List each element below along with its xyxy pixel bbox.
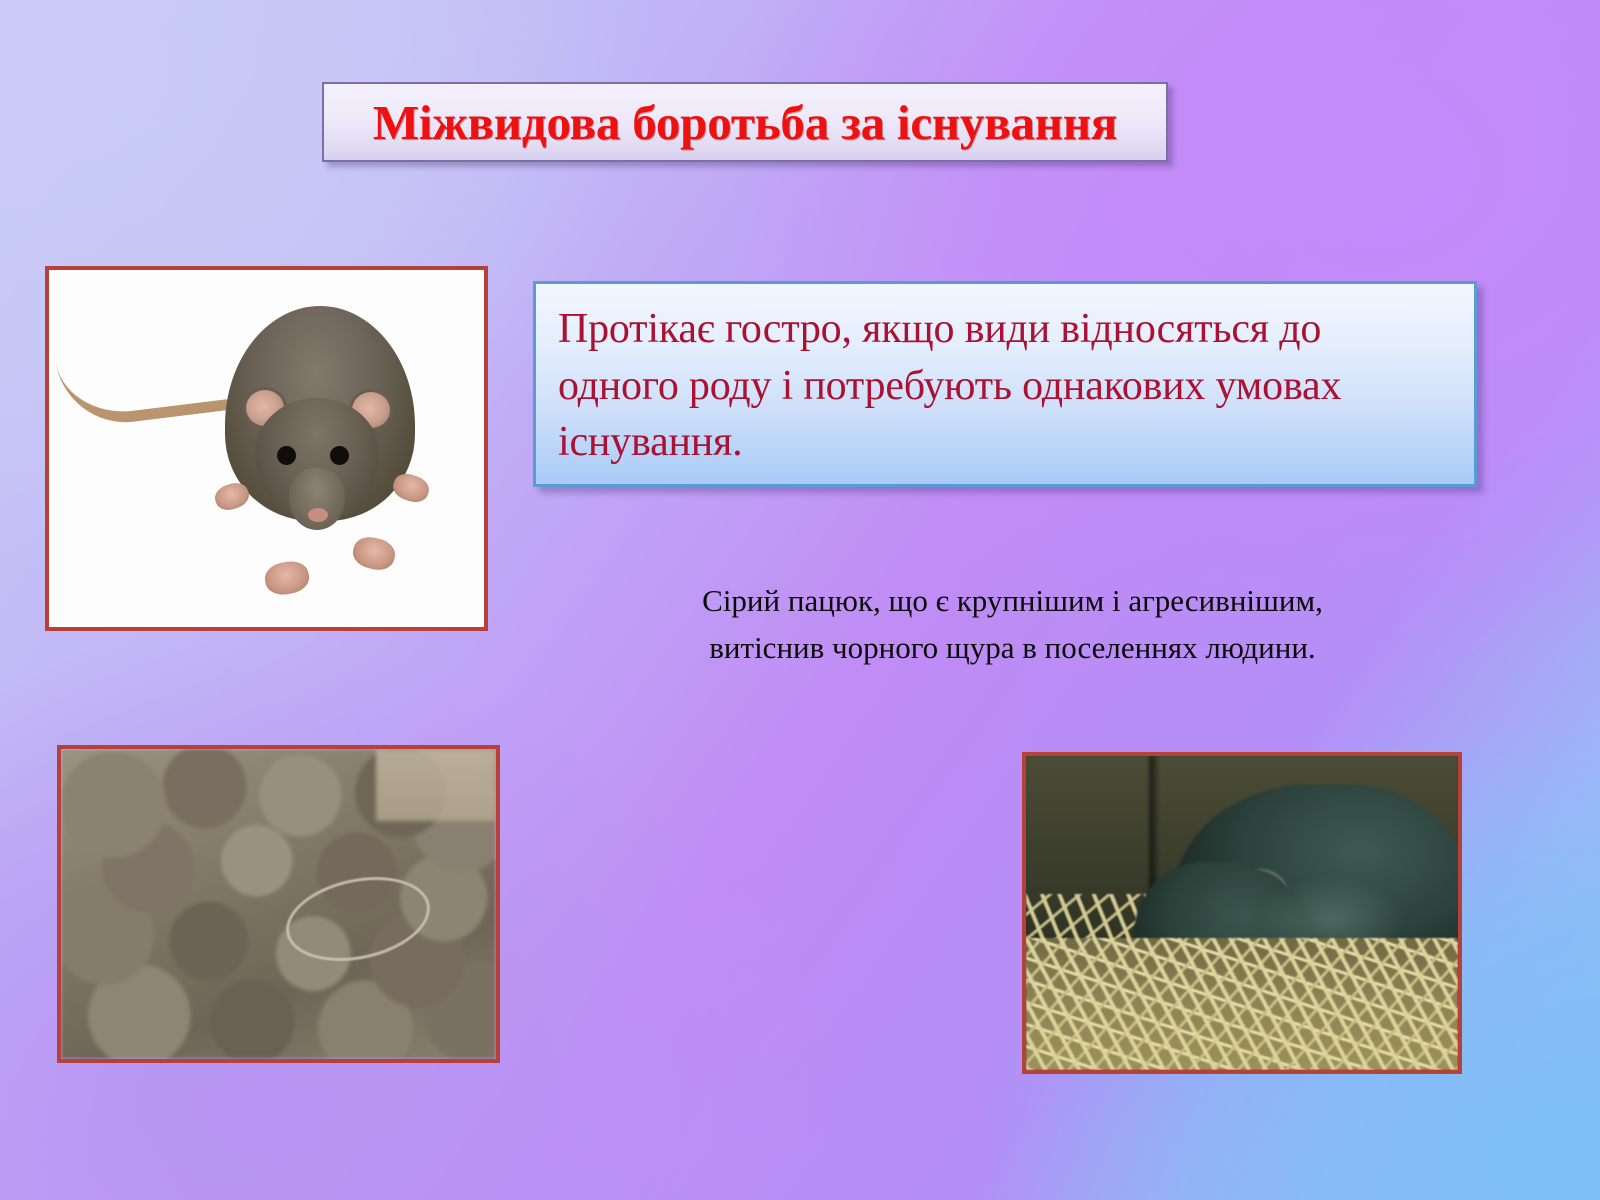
slide-title-box: Міжвидова боротьба за існування [322, 82, 1168, 162]
quote-text-box: Протікає гостро, якщо види відносяться д… [533, 281, 1477, 487]
rat-tail [55, 337, 252, 431]
rat-hind-foot-right [350, 533, 398, 573]
straw-bedding [1026, 938, 1458, 1070]
rat-hind-foot-left [263, 558, 312, 597]
slide-title-text: Міжвидова боротьба за існування [373, 94, 1117, 151]
caption-line-1: Сірий пацюк, що є крупнішим і агресивніш… [560, 578, 1465, 625]
photo-black-rat-on-straw [1022, 752, 1462, 1074]
caption-block: Сірий пацюк, що є крупнішим і агресивніш… [560, 578, 1465, 671]
photo-grey-rat-canvas [49, 270, 484, 627]
rat-pile-floor [376, 749, 496, 821]
photo-black-rat-canvas [1026, 756, 1458, 1070]
rat-eye-right [330, 446, 349, 465]
photo-rat-pile [57, 745, 500, 1063]
presentation-slide: Міжвидова боротьба за існування Протікає… [0, 0, 1600, 1200]
rat-nose [308, 508, 328, 522]
photo-grey-rat-front-view [45, 266, 488, 631]
rat-eye-left [277, 446, 296, 465]
quote-text: Протікає гостро, якщо види відносяться д… [558, 301, 1452, 471]
caption-line-2: витіснив чорного щура в поселеннях людин… [560, 625, 1465, 672]
